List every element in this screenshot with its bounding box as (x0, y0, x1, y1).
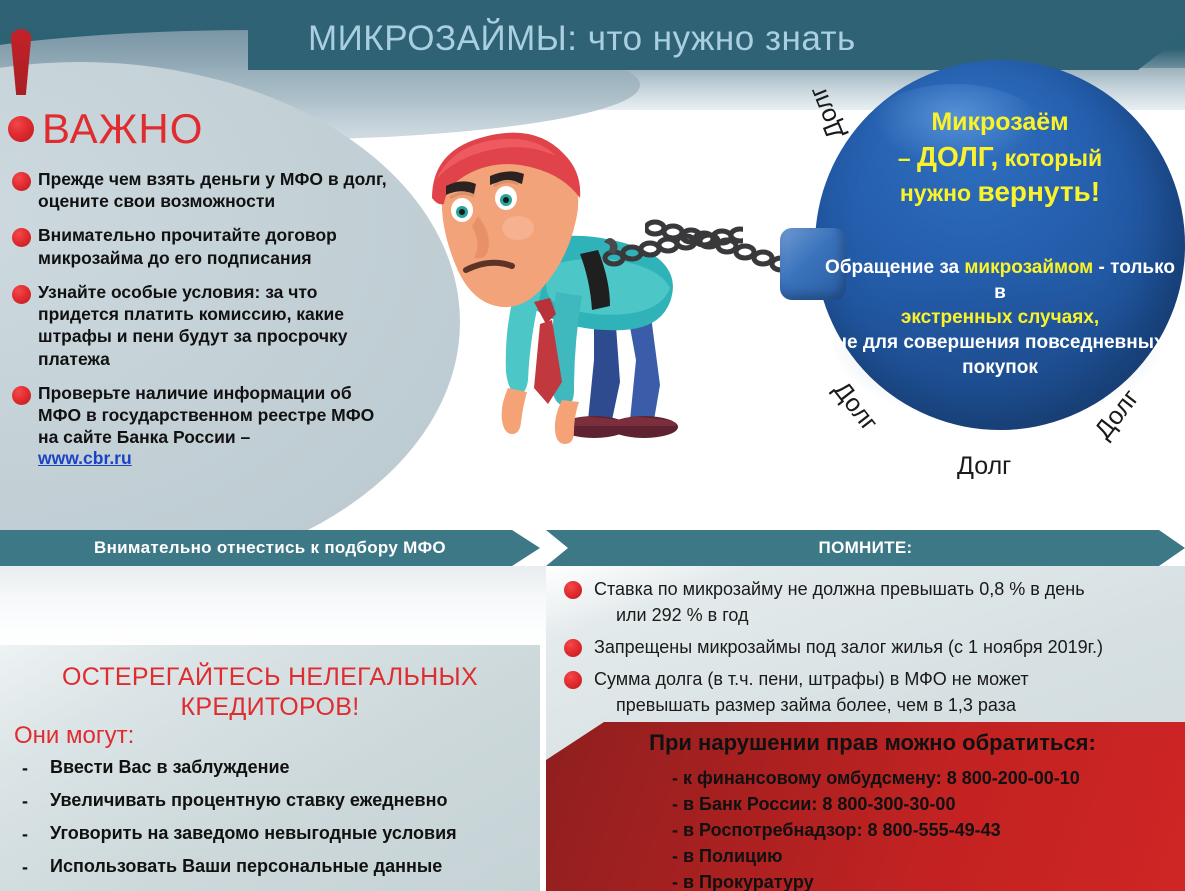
ball-line-2-rest: который (998, 145, 1102, 171)
complaints-list: - к финансовому омбудсмену: 8 800-200-00… (672, 766, 1182, 891)
ball-line-2-dash: – (898, 145, 917, 171)
list-item: - Увеличивать процентную ставку ежедневн… (14, 790, 534, 811)
bullet-dot-icon (12, 228, 31, 247)
infographic-slide: МИКРОЗАЙМЫ: что нужно знать ВАЖНО Прежде… (0, 0, 1185, 891)
mfo-selection-banner-label: Внимательно отнестись к подбору МФО (94, 538, 446, 558)
list-item-main: Ставка по микрозайму не должна превышать… (594, 579, 1085, 599)
ball-headline: Микрозаём – ДОЛГ, который нужно вернуть! (825, 108, 1175, 208)
list-item-label: - к финансовому омбудсмену: 8 800-200-00… (672, 766, 1182, 792)
remember-list: Ставка по микрозайму не должна превышать… (552, 576, 1182, 724)
list-item: Прежде чем взять деньги у МФО в долг, оц… (8, 168, 398, 212)
mfo-selection-banner: Внимательно отнестись к подбору МФО (0, 530, 540, 566)
list-item-label: Использовать Ваши персональные данные (50, 856, 534, 877)
illegal-lenders-subtitle: Они могут: (14, 722, 134, 750)
ball-line-3-small: нужно (900, 180, 978, 206)
list-item-label: Проверьте наличие информации об МФО в го… (38, 382, 398, 449)
ball-sub-part-3: не для совершения повседневных покупок (836, 332, 1165, 378)
list-item-main: Запрещены микрозаймы под залог жилья (с … (594, 637, 1103, 657)
dash-bullet-icon: - (22, 857, 28, 878)
left-white-gap (0, 566, 546, 645)
list-item-cont: превышать размер займа более, чем в 1,3 … (594, 692, 1182, 718)
list-item-label: Узнайте особые условия: за что придется … (38, 281, 398, 370)
dash-bullet-icon: - (22, 791, 28, 812)
list-item-main: Сумма долга (в т.ч. пени, штрафы) в МФО … (594, 669, 1029, 689)
ball-subtext: Обращение за микрозаймом - только в экст… (823, 255, 1177, 380)
ball-sub-highlight-2: экстренных случаях, (901, 307, 1099, 328)
ball-line-1: Микрозаём (825, 108, 1175, 138)
illegal-lenders-list: - Ввести Вас в заблуждение - Увеличивать… (14, 757, 534, 889)
list-item: Сумма долга (в т.ч. пени, штрафы) в МФО … (552, 666, 1182, 718)
debt-label-bottom-center: Долг (957, 452, 1011, 481)
ball-sub-highlight-1: микрозаймом (964, 257, 1093, 278)
list-item: Внимательно прочитайте договор микрозайм… (8, 224, 398, 268)
list-item: - Уговорить на заведомо невыгодные услов… (14, 823, 534, 844)
ball-line-3: нужно вернуть! (825, 175, 1175, 208)
list-item-label: Ввести Вас в заблуждение (50, 757, 534, 778)
remember-banner: ПОМНИТЕ: (546, 530, 1185, 566)
list-item-label: Внимательно прочитайте договор микрозайм… (38, 224, 398, 268)
list-item-label: Увеличивать процентную ставку ежедневно (50, 790, 534, 811)
list-item-label: Уговорить на заведомо невыгодные условия (50, 823, 534, 844)
ball-sub-part-1: Обращение за (825, 257, 964, 278)
remember-banner-label: ПОМНИТЕ: (819, 538, 913, 558)
list-item-label: Запрещены микрозаймы под залог жилья (с … (594, 634, 1182, 660)
cbr-website-link[interactable]: www.cbr.ru (38, 448, 132, 469)
bullet-dot-icon (12, 172, 31, 191)
list-item-label: - в Банк России: 8 800-300-30-00 (672, 792, 1182, 818)
important-heading: ВАЖНО (42, 105, 203, 153)
bullet-dot-icon (564, 639, 582, 657)
illegal-lenders-title: ОСТЕРЕГАЙТЕСЬ НЕЛЕГАЛЬНЫХ КРЕДИТОРОВ! (10, 662, 530, 722)
list-item-label: Прежде чем взять деньги у МФО в долг, оц… (38, 168, 398, 212)
list-item-cont: или 292 % в год (594, 602, 1182, 628)
ball-line-2-big: ДОЛГ, (917, 141, 998, 172)
list-item-label: Сумма долга (в т.ч. пени, штрафы) в МФО … (594, 666, 1182, 718)
list-item-label: - в Прокуратуру (672, 870, 1182, 891)
list-item-label: Ставка по микрозайму не должна превышать… (594, 576, 1182, 628)
list-item: Запрещены микрозаймы под залог жилья (с … (552, 634, 1182, 660)
complaints-title: При нарушении прав можно обратиться: (560, 730, 1185, 756)
ball-line-3-big: вернуть! (978, 176, 1101, 207)
dash-bullet-icon: - (22, 758, 28, 779)
exclamation-dot-icon (8, 116, 34, 142)
bullet-dot-icon (564, 671, 582, 689)
list-item-label: - в Полицию (672, 844, 1182, 870)
bullet-dot-icon (564, 581, 582, 599)
illegal-lenders-title-line-1: ОСТЕРЕГАЙТЕСЬ НЕЛЕГАЛЬНЫХ (62, 663, 478, 691)
bullet-dot-icon (12, 285, 31, 304)
dash-bullet-icon: - (22, 824, 28, 845)
illegal-lenders-title-line-2: КРЕДИТОРОВ! (181, 693, 360, 721)
important-list: Прежде чем взять деньги у МФО в долг, оц… (8, 168, 398, 481)
list-item: - Использовать Ваши персональные данные (14, 856, 534, 877)
list-item-label: - в Роспотребнадзор: 8 800-555-49-43 (672, 818, 1182, 844)
list-item: Проверьте наличие информации об МФО в го… (8, 382, 398, 470)
list-item: Ставка по микрозайму не должна превышать… (552, 576, 1182, 628)
list-item: Узнайте особые условия: за что придется … (8, 281, 398, 370)
ball-line-2: – ДОЛГ, который (825, 140, 1175, 173)
bullet-dot-icon (12, 386, 31, 405)
page-title: МИКРОЗАЙМЫ: что нужно знать (248, 19, 856, 59)
list-item: - Ввести Вас в заблуждение (14, 757, 534, 778)
